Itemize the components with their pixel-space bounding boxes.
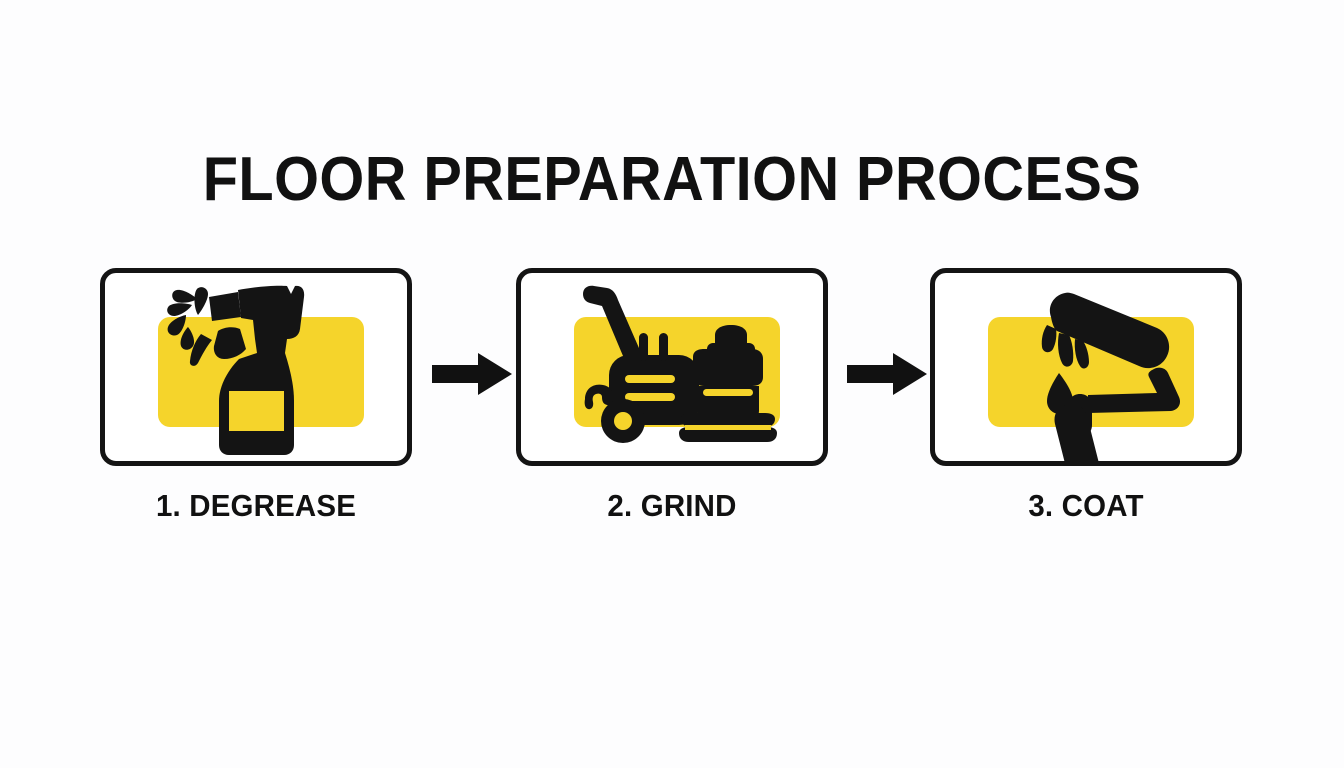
page-title: FLOOR PREPARATION PROCESS bbox=[47, 144, 1297, 216]
step-card-coat[interactable] bbox=[930, 268, 1242, 466]
step-label-degrease: 1. DEGREASE bbox=[108, 488, 404, 524]
process-steps-row: 1. DEGREASE bbox=[0, 268, 1344, 528]
spray-bottle-icon bbox=[105, 273, 407, 461]
step-card-grind[interactable] bbox=[516, 268, 828, 466]
process-infographic: FLOOR PREPARATION PROCESS bbox=[0, 0, 1344, 768]
process-step-coat[interactable]: 3. COAT bbox=[930, 268, 1250, 524]
paint-roller-icon bbox=[935, 273, 1237, 461]
floor-grinder-icon bbox=[521, 273, 823, 461]
process-step-degrease[interactable]: 1. DEGREASE bbox=[100, 268, 420, 524]
arrow-right-icon bbox=[432, 352, 512, 396]
process-step-grind[interactable]: 2. GRIND bbox=[516, 268, 836, 524]
step-card-degrease[interactable] bbox=[100, 268, 412, 466]
step-label-grind: 2. GRIND bbox=[524, 488, 820, 524]
arrow-right-icon bbox=[847, 352, 927, 396]
step-label-coat: 3. COAT bbox=[938, 488, 1234, 524]
